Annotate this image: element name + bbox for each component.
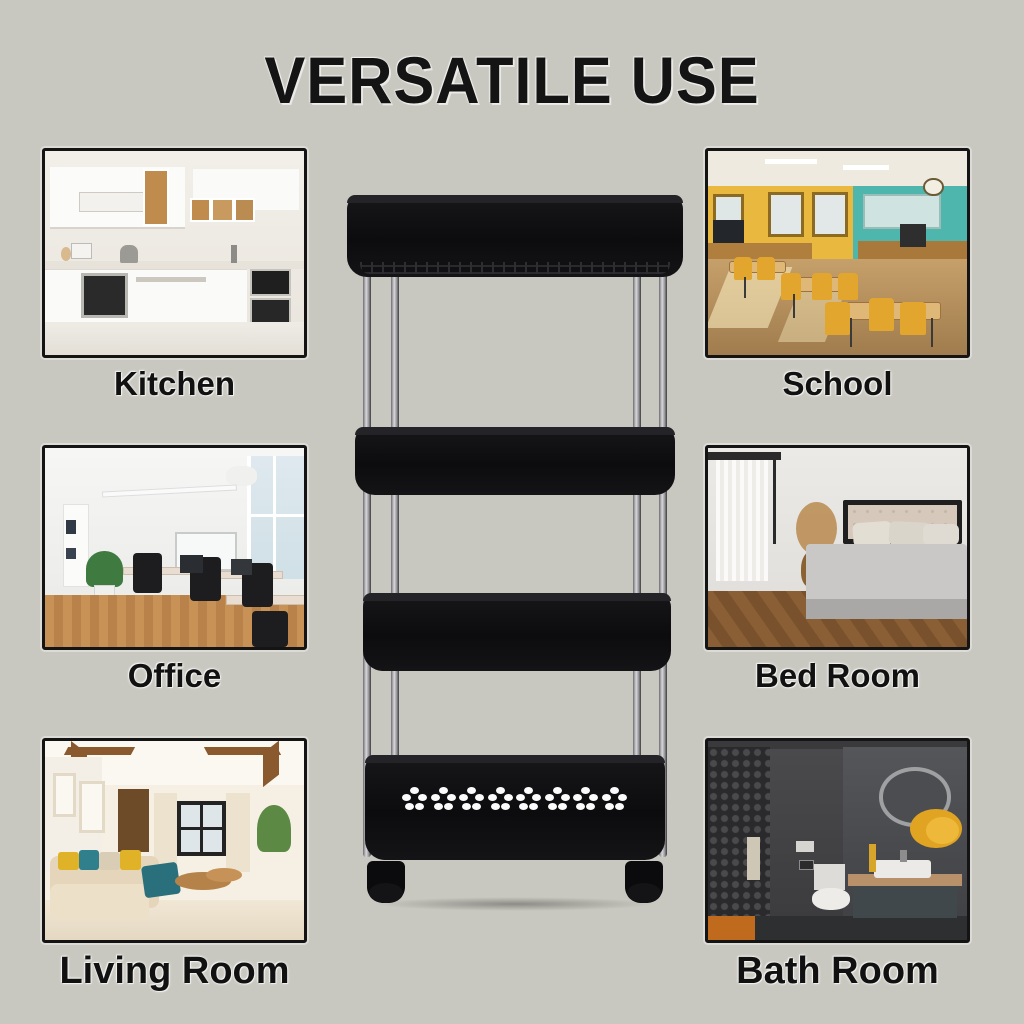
school-scene — [708, 151, 967, 355]
office-scene — [45, 448, 304, 647]
kitchen-scene — [45, 151, 304, 355]
cart-shadow — [375, 897, 655, 911]
card-livingroom[interactable]: Living Room — [42, 738, 307, 993]
drain-hole-cluster — [431, 787, 457, 821]
caption-school: School — [705, 365, 970, 403]
drain-hole-cluster — [488, 787, 514, 821]
caption-bedroom: Bed Room — [705, 657, 970, 695]
bathroom-scene — [708, 741, 967, 940]
card-office[interactable]: Office — [42, 445, 307, 695]
caption-bathroom: Bath Room — [705, 950, 970, 993]
photo-school — [705, 148, 970, 358]
cart-tier-1-mesh — [360, 262, 669, 274]
drain-hole-cluster — [459, 787, 485, 821]
photo-bathroom — [705, 738, 970, 943]
card-bedroom[interactable]: Bed Room — [705, 445, 970, 695]
livingroom-scene — [45, 741, 304, 940]
photo-office — [42, 445, 307, 650]
photo-livingroom — [42, 738, 307, 943]
cart-tier-2-rim — [355, 427, 675, 435]
cart-tier-1 — [347, 195, 683, 277]
caption-kitchen: Kitchen — [42, 365, 307, 403]
drain-hole-cluster — [545, 787, 571, 821]
cart-tier-1-rim — [347, 195, 683, 203]
cart-tier-3 — [363, 593, 671, 671]
page-title: VERSATILE USE — [36, 42, 988, 118]
cart-drain-holes — [401, 783, 629, 825]
photo-bedroom — [705, 445, 970, 650]
card-school[interactable]: School — [705, 148, 970, 403]
drain-hole-cluster — [573, 787, 599, 821]
cart-tier-2 — [355, 427, 675, 495]
drain-hole-cluster — [516, 787, 542, 821]
card-kitchen[interactable]: Kitchen — [42, 148, 307, 403]
cart-tier-4 — [365, 755, 665, 860]
product-cart — [345, 195, 685, 905]
card-bathroom[interactable]: Bath Room — [705, 738, 970, 993]
caption-livingroom: Living Room — [42, 950, 307, 993]
cart-tier-4-rim — [365, 755, 665, 763]
bedroom-scene — [708, 448, 967, 647]
cart-tier-3-rim — [363, 593, 671, 601]
drain-hole-cluster — [402, 787, 428, 821]
caption-office: Office — [42, 657, 307, 695]
photo-kitchen — [42, 148, 307, 358]
drain-hole-cluster — [602, 787, 628, 821]
